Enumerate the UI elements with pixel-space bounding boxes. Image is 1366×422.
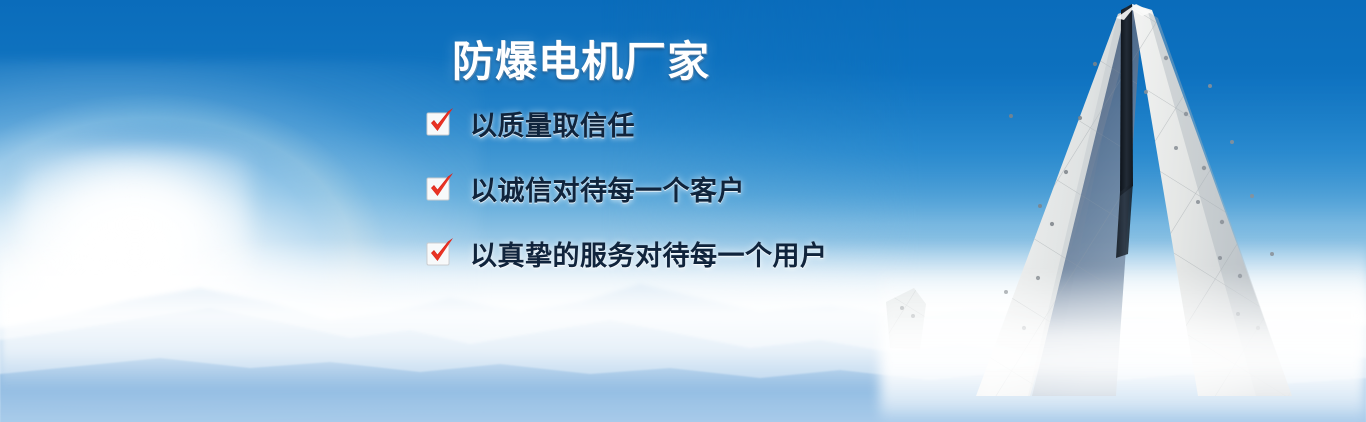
list-item-label: 以诚信对待每一个客户 xyxy=(470,169,745,208)
red-check-icon xyxy=(426,176,452,202)
banner-content: 防爆电机厂家 以质量取信任 xyxy=(0,0,900,422)
red-check-icon xyxy=(426,241,452,267)
list-item: 以质量取信任 xyxy=(426,104,828,143)
benefits-list: 以质量取信任 以诚信对待每一个客户 xyxy=(426,104,828,273)
concrete-monument-illustration xyxy=(880,0,1366,396)
list-item: 以真挚的服务对待每一个用户 xyxy=(426,234,828,273)
list-item-label: 以真挚的服务对待每一个用户 xyxy=(470,234,828,273)
list-item: 以诚信对待每一个客户 xyxy=(426,169,828,208)
promo-banner: 防爆电机厂家 以质量取信任 xyxy=(0,0,1366,422)
red-check-icon xyxy=(426,111,452,137)
list-item-label: 以质量取信任 xyxy=(470,104,635,143)
page-title: 防爆电机厂家 xyxy=(452,28,710,89)
